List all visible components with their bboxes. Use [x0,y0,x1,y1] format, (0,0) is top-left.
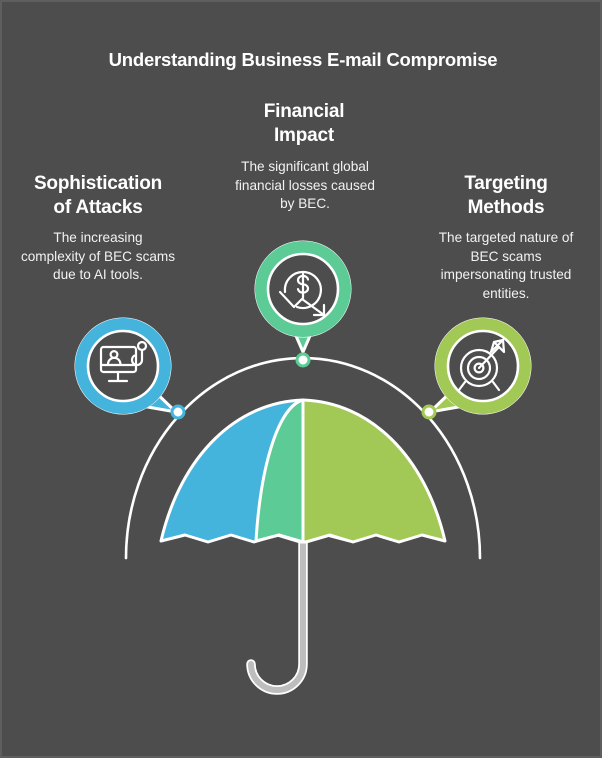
umbrella-handle [251,527,303,690]
bubble-sophistication[interactable] [76,319,176,413]
column-heading-line2: Methods [418,196,594,220]
column-heading-targeting-methods: Targeting Methods [418,172,594,220]
column-heading-line1: Targeting [418,172,594,196]
column-heading-line2: of Attacks [10,196,186,220]
column-heading-line2: Impact [216,124,392,148]
column-heading-sophistication: Sophistication of Attacks [10,172,186,220]
connector-dot-left [172,406,184,418]
connector-dot-right [423,406,435,418]
bubble-financial-impact[interactable] [256,242,350,352]
column-body-financial-impact: The significant global financial losses … [230,158,380,214]
infographic-canvas: Understanding Business E-mail Compromise… [0,0,602,758]
column-heading-line1: Financial [216,100,392,124]
umbrella-canopy [161,400,445,542]
bubble-targeting-methods[interactable] [430,319,530,413]
column-heading-line1: Sophistication [10,172,186,196]
umbrella-panel-olive [303,400,445,542]
page-title: Understanding Business E-mail Compromise [2,48,602,72]
column-body-targeting-methods: The targeted nature of BEC scams imperso… [426,229,586,303]
connector-dot-center [297,354,309,366]
umbrella [161,400,445,690]
column-heading-financial-impact: Financial Impact [216,100,392,148]
column-body-sophistication: The increasing complexity of BEC scams d… [20,229,176,285]
